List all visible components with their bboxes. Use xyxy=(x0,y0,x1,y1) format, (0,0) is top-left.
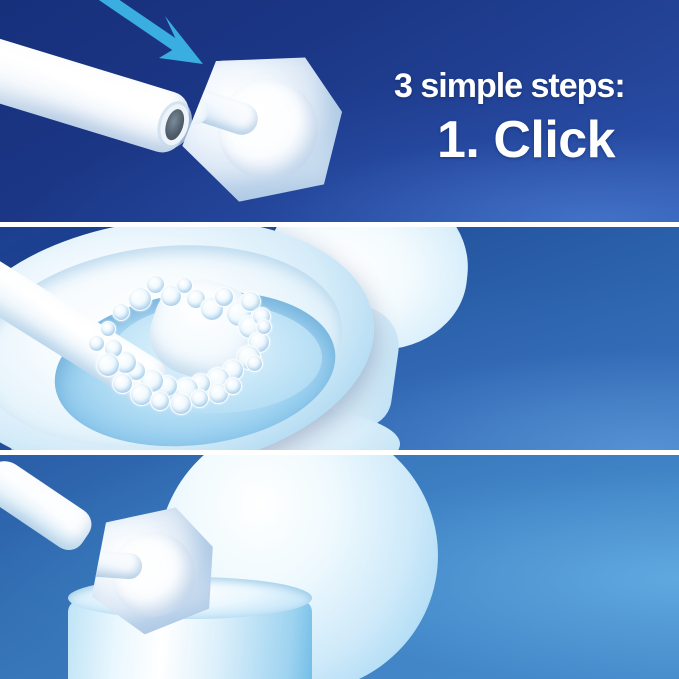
foam-bubble xyxy=(100,321,116,337)
foam-bubble xyxy=(150,391,170,411)
foam-bubble xyxy=(246,355,263,372)
foam-bubble xyxy=(256,319,272,335)
foam-bubble xyxy=(112,303,130,321)
arrow-down-right-icon xyxy=(95,0,225,74)
foam-bubble xyxy=(170,393,192,415)
three-simple-steps-poster: 3 simple steps: 1. Click 2. Swish xyxy=(0,0,679,679)
page-title: 3 simple steps: xyxy=(394,67,625,106)
step-1-panel: 3 simple steps: 1. Click xyxy=(0,0,679,222)
foam-bubble xyxy=(224,377,242,395)
foam-bubble xyxy=(190,389,209,408)
step-1-label: 1. Click xyxy=(437,110,615,170)
step-3-panel: 3. Toss xyxy=(0,455,679,679)
foam-bubble xyxy=(88,335,105,352)
step-2-panel: 2. Swish xyxy=(0,227,679,450)
